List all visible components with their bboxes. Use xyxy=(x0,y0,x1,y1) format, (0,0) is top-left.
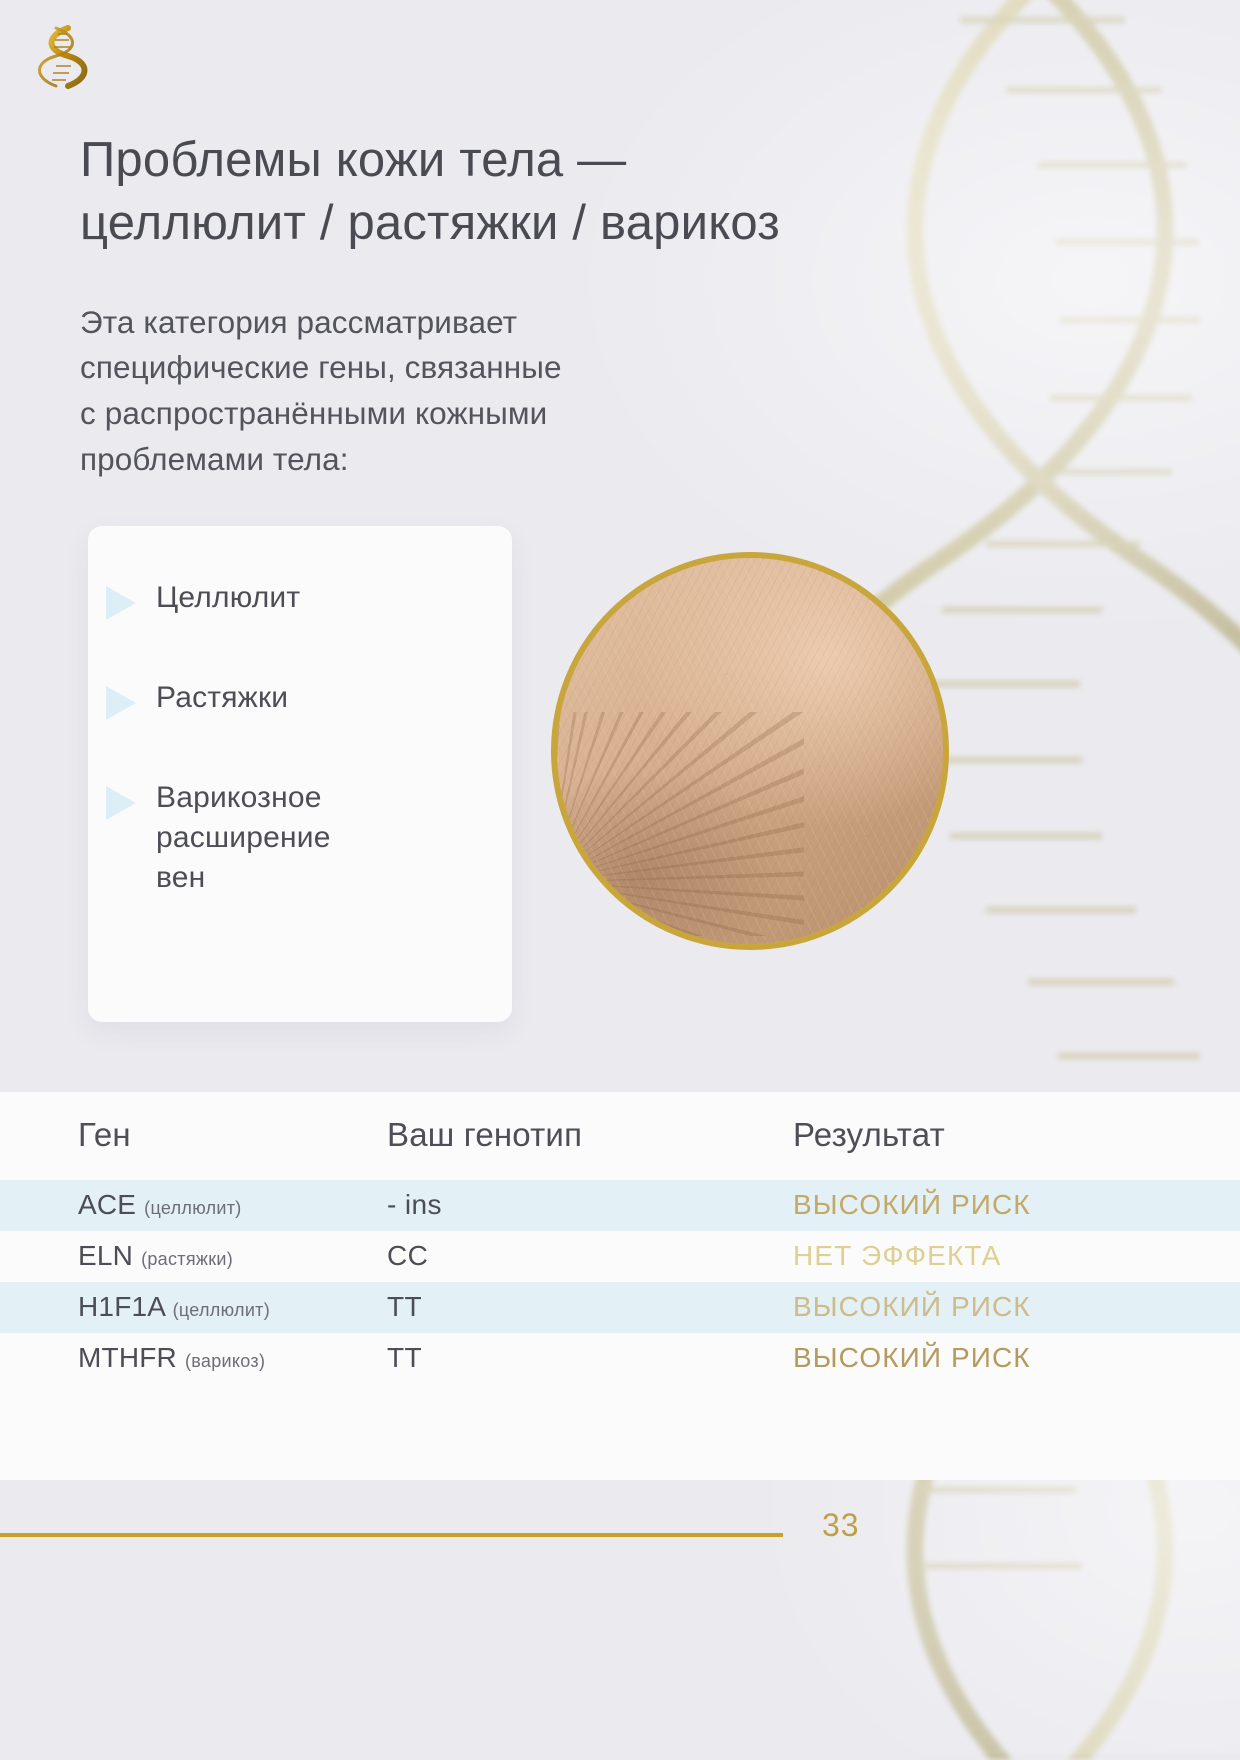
cell-gene: H1F1A (целлюлит) xyxy=(78,1291,270,1323)
gene-symbol: ACE xyxy=(78,1189,136,1220)
list-item-label: Растяжки xyxy=(156,678,288,718)
cell-genotype: CC xyxy=(387,1240,428,1272)
gene-symbol: ELN xyxy=(78,1240,133,1271)
triangle-bullet-icon xyxy=(106,786,136,820)
list-item: Варикозное расширение вен xyxy=(102,778,494,898)
cell-genotype: - ins xyxy=(387,1189,442,1221)
page-title: Проблемы кожи тела — целлюлит / растяжки… xyxy=(80,129,980,255)
cell-result: ВЫСОКИЙ РИСК xyxy=(793,1189,1031,1221)
gene-note: (растяжки) xyxy=(141,1249,233,1269)
cell-result: НЕТ ЭФФЕКТА xyxy=(793,1240,1001,1272)
column-header-result: Результат xyxy=(793,1116,945,1154)
intro-paragraph: Эта категория рассматривает специфически… xyxy=(80,300,840,484)
cell-gene: ELN (растяжки) xyxy=(78,1240,233,1272)
photo-speckle-layer xyxy=(557,558,943,944)
list-item-label: Целлюлит xyxy=(156,578,300,618)
column-header-genotype: Ваш генотип xyxy=(387,1116,582,1154)
gene-note: (целлюлит) xyxy=(173,1300,270,1320)
triangle-bullet-icon xyxy=(106,586,136,620)
gene-note: (варикоз) xyxy=(185,1351,265,1371)
cell-gene: MTHFR (варикоз) xyxy=(78,1342,265,1374)
cell-genotype: TT xyxy=(387,1291,422,1323)
gene-note: (целлюлит) xyxy=(144,1198,241,1218)
table-row: ELN (растяжки) CC НЕТ ЭФФЕКТА xyxy=(0,1231,1240,1282)
table-header-row: Ген Ваш генотип Результат xyxy=(0,1092,1240,1180)
dna-helix-logo xyxy=(38,22,90,92)
conditions-list: Целлюлит Растяжки Варикозное расширение … xyxy=(102,578,494,898)
genotype-table: Ген Ваш генотип Результат ACE (целлюлит)… xyxy=(0,1092,1240,1480)
page-number: 33 xyxy=(822,1507,860,1544)
cell-genotype: TT xyxy=(387,1342,422,1374)
list-item: Целлюлит xyxy=(102,578,494,620)
cell-result: ВЫСОКИЙ РИСК xyxy=(793,1291,1031,1323)
triangle-bullet-icon xyxy=(106,686,136,720)
table-row: MTHFR (варикоз) TT ВЫСОКИЙ РИСК xyxy=(0,1333,1240,1384)
table-row: ACE (целлюлит) - ins ВЫСОКИЙ РИСК xyxy=(0,1180,1240,1231)
skin-condition-photo xyxy=(551,552,949,950)
table-row: H1F1A (целлюлит) TT ВЫСОКИЙ РИСК xyxy=(0,1282,1240,1333)
cell-result: ВЫСОКИЙ РИСК xyxy=(793,1342,1031,1374)
gene-symbol: H1F1A xyxy=(78,1291,165,1322)
list-item: Растяжки xyxy=(102,678,494,720)
gene-symbol: MTHFR xyxy=(78,1342,177,1373)
footer-rule xyxy=(0,1533,783,1537)
cell-gene: ACE (целлюлит) xyxy=(78,1189,242,1221)
conditions-card: Целлюлит Растяжки Варикозное расширение … xyxy=(88,526,512,1022)
column-header-gene: Ген xyxy=(78,1116,131,1154)
list-item-label: Варикозное расширение вен xyxy=(156,778,331,898)
